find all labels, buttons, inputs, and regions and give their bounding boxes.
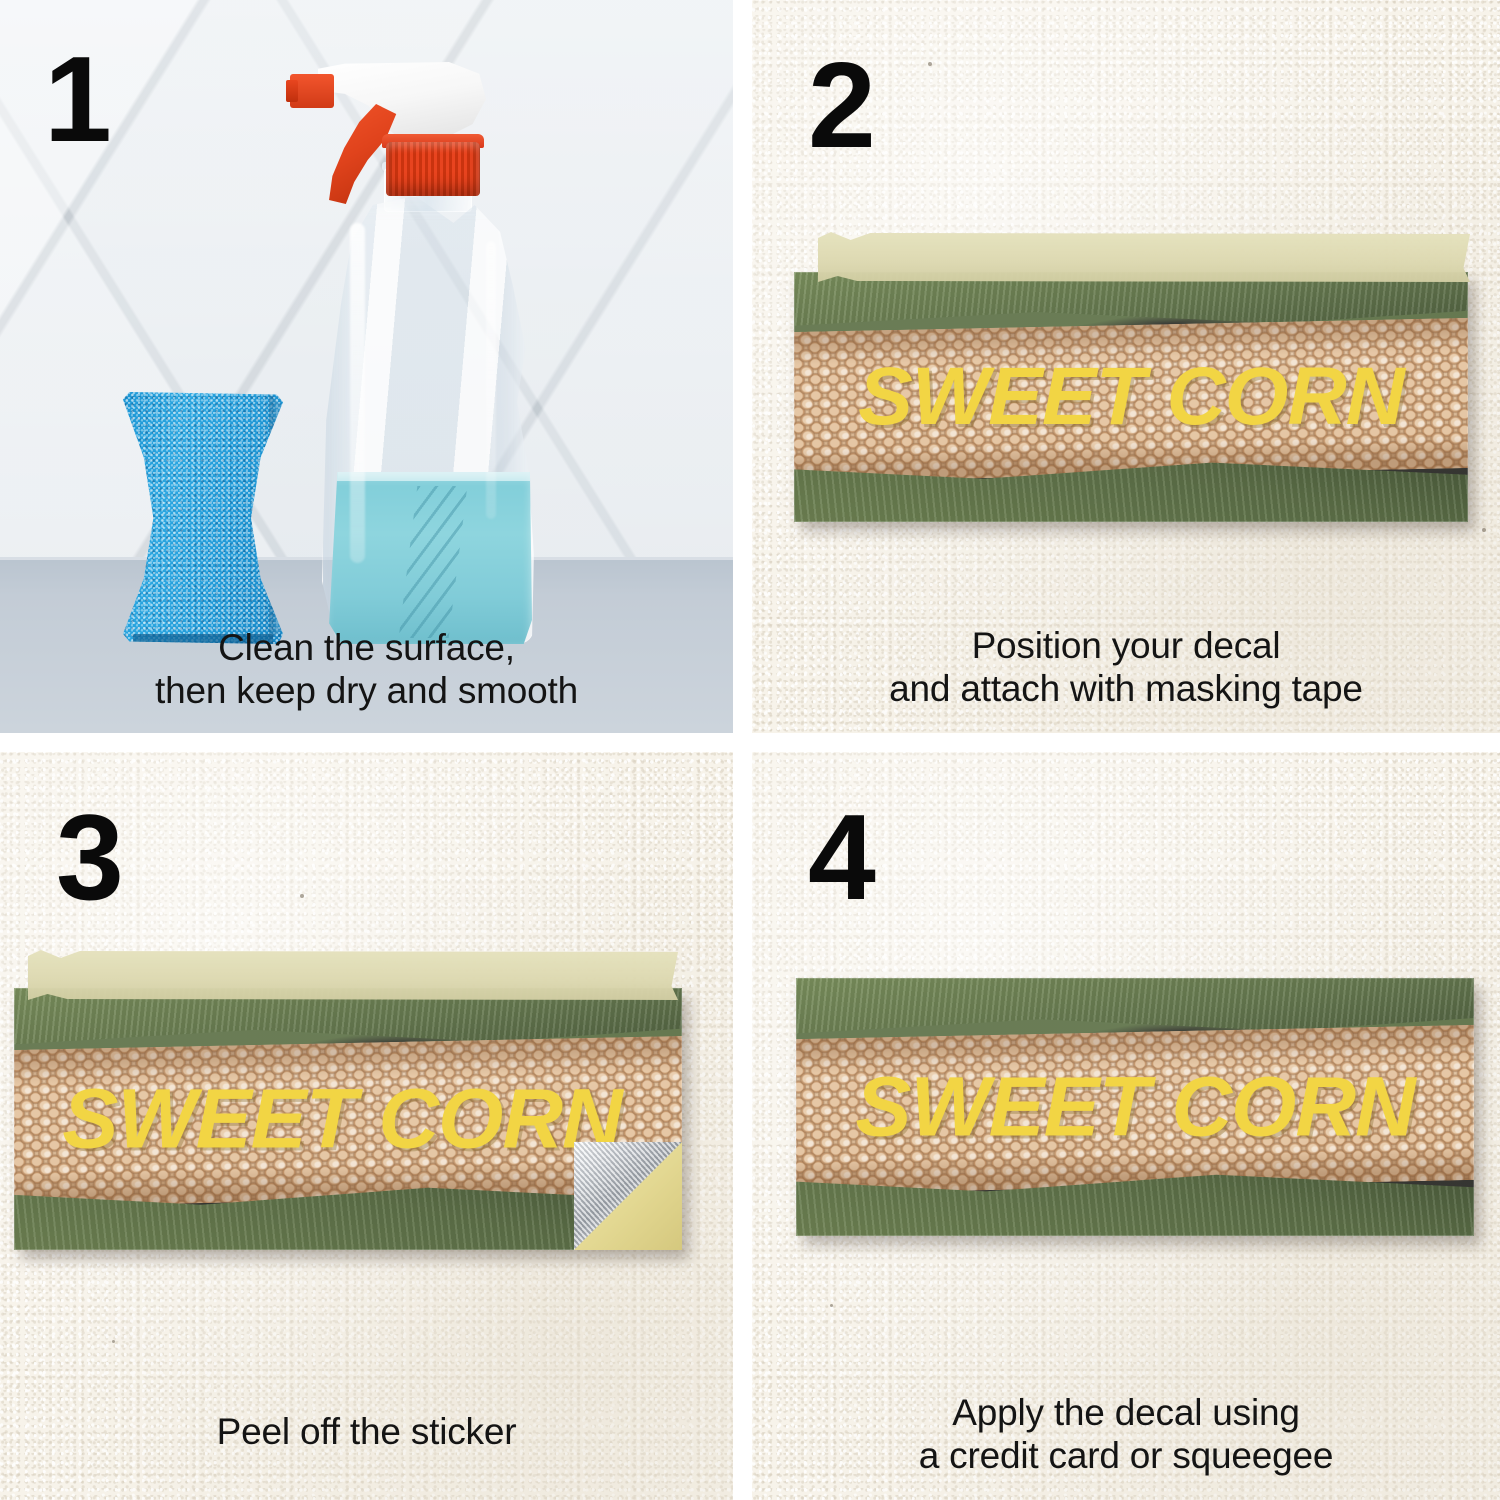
- step-number-1: 1: [44, 38, 110, 160]
- step-panel-3: SWEET CORN 3 Peel off the sticker: [0, 752, 733, 1500]
- step-caption-4: Apply the decal using a credit card or s…: [752, 1392, 1500, 1478]
- wall-speck: [112, 1340, 115, 1343]
- decal-4: SWEET CORN: [796, 978, 1474, 1236]
- wall-speck: [1482, 528, 1486, 532]
- spray-bottle: [322, 196, 534, 644]
- bottle-highlight: [350, 223, 365, 563]
- step-panel-4: SWEET CORN 4 Apply the decal using a cre…: [752, 752, 1500, 1500]
- liquid-dip-tube: [398, 486, 466, 638]
- step-caption-2: Position your decal and attach with mask…: [752, 625, 1500, 711]
- masking-tape-3: [28, 950, 678, 1000]
- decal-text-2: SWEET CORN: [794, 350, 1468, 444]
- trigger-sprayer-head: [290, 62, 490, 204]
- bottle-highlight-secondary: [486, 241, 496, 519]
- step-number-2: 2: [808, 44, 874, 166]
- decal-2: SWEET CORN: [794, 272, 1468, 522]
- wall-speck: [928, 62, 932, 66]
- wall-speck: [300, 894, 304, 898]
- step-panel-1: 1 Clean the surface, then keep dry and s…: [0, 0, 733, 733]
- bottle-cap: [386, 142, 480, 196]
- step-number-3: 3: [56, 796, 122, 918]
- decal-3: SWEET CORN: [14, 988, 682, 1250]
- masking-tape-2: [818, 232, 1470, 282]
- step-caption-3: Peel off the sticker: [0, 1411, 733, 1454]
- step-number-4: 4: [808, 796, 874, 918]
- instruction-sheet: 1 Clean the surface, then keep dry and s…: [0, 0, 1500, 1500]
- step-caption-1: Clean the surface, then keep dry and smo…: [0, 627, 733, 713]
- wall-speck: [830, 1304, 833, 1307]
- step1-photo: [0, 0, 733, 733]
- sprayer-nozzle-tip: [286, 80, 298, 102]
- step-panel-2: SWEET CORN 2 Position your decal and att…: [752, 0, 1500, 733]
- decal-text-4: SWEET CORN: [796, 1059, 1474, 1156]
